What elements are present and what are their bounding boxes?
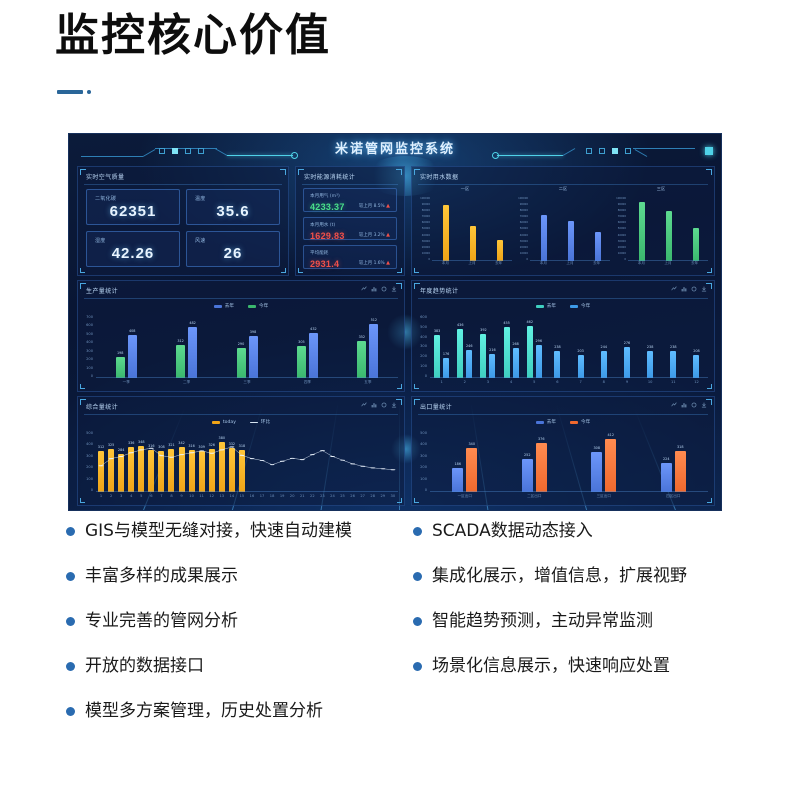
bar[interactable]: 238: [554, 351, 560, 378]
bar-group[interactable]: [655, 197, 682, 261]
trend-point[interactable]: [380, 468, 385, 469]
panel-divider: [302, 184, 398, 185]
legend-item[interactable]: today: [212, 420, 236, 425]
panel-title: 出口量统计: [420, 402, 452, 411]
header-node-circle: [291, 152, 298, 159]
bar[interactable]: 412: [605, 439, 616, 492]
bar[interactable]: [595, 232, 601, 261]
trend-point[interactable]: [250, 458, 255, 459]
refresh-icon[interactable]: [381, 402, 387, 408]
bar-value-label: 455: [503, 321, 509, 325]
bar-group[interactable]: [557, 197, 584, 261]
y-axis-tick: 20000: [520, 246, 528, 249]
y-axis-tick: 40000: [618, 234, 626, 237]
bar-group[interactable]: 392216: [476, 315, 499, 378]
energy-delta: 较上月 3.2% ▲: [359, 232, 390, 238]
bar-group[interactable]: 203: [569, 315, 592, 378]
bar[interactable]: 208: [693, 355, 699, 378]
bar[interactable]: 340: [466, 448, 477, 492]
bar-value-label: 482: [189, 321, 195, 325]
x-axis-line: [96, 491, 398, 492]
trend-point[interactable]: [391, 469, 396, 470]
bar[interactable]: 383: [434, 335, 440, 378]
panel-toolbar[interactable]: [361, 286, 397, 292]
bar-value-label: 176: [443, 352, 449, 356]
trend-point[interactable]: [229, 446, 234, 447]
bar-value-label: 276: [624, 341, 630, 345]
bar-value-label: 340: [469, 442, 475, 446]
bar[interactable]: [497, 240, 503, 261]
panel-toolbar[interactable]: [361, 402, 397, 408]
bar[interactable]: 312: [176, 345, 185, 378]
y-axis: 1000009000080000700006000050000400003000…: [612, 187, 628, 271]
kpi-card[interactable]: 二氧化碳 62351: [86, 189, 180, 225]
bar-group[interactable]: [487, 197, 514, 261]
download-icon[interactable]: [391, 402, 397, 408]
chart-legend[interactable]: 去年今年: [412, 419, 714, 425]
y-axis-tick: 70000: [618, 215, 626, 218]
y-axis-tick: 400: [420, 442, 427, 446]
y-axis-tick: 50000: [422, 227, 430, 230]
bar-group[interactable]: 312482: [156, 315, 216, 378]
legend-label: 今年: [581, 419, 590, 425]
bar[interactable]: 376: [536, 443, 547, 492]
bar[interactable]: [541, 215, 547, 261]
x-axis-tick: 1: [96, 494, 106, 503]
x-axis-tick: 2: [106, 494, 116, 503]
bar-value-label: 203: [577, 349, 583, 353]
y-axis-tick: 10000: [618, 252, 626, 255]
x-axis-labels: 123456789101112: [430, 380, 708, 389]
bar-value-label: 238: [647, 345, 653, 349]
y-axis-tick: 100000: [616, 197, 626, 200]
bar[interactable]: 318: [675, 451, 686, 492]
bar-group[interactable]: 186340: [430, 431, 500, 492]
trend-point[interactable]: [340, 460, 345, 461]
y-axis-tick: 0: [428, 258, 430, 261]
x-axis-tick: 25: [338, 494, 348, 503]
x-axis-labels: 本月上月去年: [628, 261, 708, 270]
x-axis-tick: 一区出口: [430, 494, 500, 503]
y-axis-tick: 20000: [422, 246, 430, 249]
bar[interactable]: 252: [522, 459, 533, 492]
bar[interactable]: [639, 202, 645, 261]
bar[interactable]: 238: [647, 351, 653, 378]
bar[interactable]: 305: [297, 346, 306, 378]
y-axis-tick: 60000: [520, 221, 528, 224]
bar-value-label: 238: [554, 345, 560, 349]
download-icon[interactable]: [701, 402, 707, 408]
y-axis-tick: 100: [86, 366, 93, 370]
benefit-text: 开放的数据接口: [85, 655, 204, 678]
legend-swatch: [570, 421, 578, 424]
legend-label: 今年: [581, 303, 590, 309]
bar-group[interactable]: 208: [685, 315, 708, 378]
panel-toolbar[interactable]: [671, 402, 707, 408]
panel-divider: [84, 184, 282, 185]
bar[interactable]: 290: [237, 348, 246, 378]
bullet-dot-icon: [66, 527, 75, 536]
chart-legend[interactable]: 去年今年: [78, 303, 404, 309]
energy-value: 2931.4: [310, 259, 339, 269]
bar-series: [530, 197, 612, 261]
bar-icon[interactable]: [371, 286, 377, 292]
trend-arrow-icon: ▲: [386, 260, 390, 266]
x-axis-tick: 24: [327, 494, 337, 503]
bar-group[interactable]: 305432: [277, 315, 337, 378]
x-axis-labels: 一区出口二区出口三区出口四区出口: [430, 494, 708, 503]
bar-group[interactable]: [585, 197, 612, 261]
bar-series: 198408312482290398305432352512: [96, 315, 398, 378]
bar[interactable]: 198: [116, 357, 125, 378]
header-deco-line-bright: [497, 155, 563, 156]
header-node-square-filled: [612, 148, 618, 154]
bar-value-label: 252: [524, 453, 530, 457]
bar-group[interactable]: [432, 197, 459, 261]
header-end-marker: [705, 147, 713, 155]
bar-group[interactable]: [628, 197, 655, 261]
y-axis-tick: 30000: [618, 240, 626, 243]
header-node-square: [599, 148, 605, 154]
x-axis-tick: 去年: [583, 261, 610, 270]
y-axis-tick: 100: [420, 364, 427, 368]
bar-group[interactable]: 352512: [338, 315, 398, 378]
x-axis-tick: 28: [368, 494, 378, 503]
bullet-dot-icon: [413, 662, 422, 671]
bar-value-label: 186: [455, 462, 461, 466]
x-axis-tick: 上月: [557, 261, 584, 270]
y-axis-tick: 40000: [520, 234, 528, 237]
legend-item[interactable]: 环比: [250, 419, 270, 425]
chart-legend[interactable]: 去年今年: [412, 303, 714, 309]
header-deco-line-bright: [227, 155, 293, 156]
bar-icon[interactable]: [681, 402, 687, 408]
x-axis-tick: 二区出口: [500, 494, 570, 503]
y-axis-tick: 80000: [618, 209, 626, 212]
trend-point[interactable]: [189, 452, 194, 453]
chart-switch-icon[interactable]: [361, 286, 367, 292]
panel-title: 综合量统计: [86, 402, 118, 411]
benefit-item: 开放的数据接口: [66, 655, 438, 678]
bar-group[interactable]: 252376: [500, 431, 570, 492]
bar-group[interactable]: 455268: [500, 315, 523, 378]
x-axis-line: [430, 377, 708, 378]
chart-switch-icon[interactable]: [671, 286, 677, 292]
bar[interactable]: 203: [578, 355, 584, 378]
x-axis-tick: 4: [126, 494, 136, 503]
y-axis: 5004003002001000: [78, 431, 96, 492]
bar[interactable]: 462: [527, 326, 533, 378]
benefit-text: 智能趋势预测，主动异常监测: [432, 610, 653, 633]
x-axis-tick: 30: [388, 494, 398, 503]
x-axis-tick: 12: [207, 494, 217, 503]
x-axis-tick: 7: [156, 494, 166, 503]
x-axis-tick: 22: [307, 494, 317, 503]
kpi-card[interactable]: 温度 35.6: [186, 189, 280, 225]
bar[interactable]: 246: [466, 350, 472, 378]
legend-swatch: [250, 422, 258, 423]
bar-group[interactable]: 244: [592, 315, 615, 378]
bar[interactable]: 244: [601, 351, 607, 378]
y-axis-tick: 700: [86, 315, 93, 319]
y-axis-tick: 10000: [520, 252, 528, 255]
bar-icon[interactable]: [681, 286, 687, 292]
header-node-square: [586, 148, 592, 154]
trend-point[interactable]: [240, 455, 245, 456]
benefit-item: 智能趋势预测，主动异常监测: [413, 610, 783, 633]
bar[interactable]: 268: [513, 348, 519, 378]
bar-group[interactable]: 276: [615, 315, 638, 378]
bar[interactable]: 352: [357, 341, 366, 378]
bar-group[interactable]: 238: [639, 315, 662, 378]
bar-group[interactable]: 308412: [569, 431, 639, 492]
benefit-item: 丰富多样的成果展示: [66, 565, 438, 588]
trend-point[interactable]: [139, 449, 144, 450]
trend-point[interactable]: [199, 450, 204, 451]
bullet-dot-icon: [413, 617, 422, 626]
benefit-item: 场景化信息展示，快速响应处置: [413, 655, 783, 678]
energy-delta: 较上月 8.5% ▲: [359, 203, 390, 209]
y-axis-tick: 500: [420, 325, 427, 329]
panel-divider: [84, 298, 398, 299]
bar-group[interactable]: 290398: [217, 315, 277, 378]
y-axis-tick: 60000: [618, 221, 626, 224]
x-axis-tick: 5: [136, 494, 146, 503]
legend-item[interactable]: 去年: [536, 419, 556, 425]
legend-item[interactable]: 今年: [570, 419, 590, 425]
chart-switch-icon[interactable]: [671, 402, 677, 408]
x-axis-labels: 本月上月去年: [530, 261, 610, 270]
trend-point[interactable]: [310, 454, 315, 455]
bar[interactable]: 296: [536, 345, 542, 378]
y-axis-tick: 40000: [422, 234, 430, 237]
trend-point[interactable]: [270, 464, 275, 465]
x-axis-tick: 去年: [485, 261, 512, 270]
bar-group[interactable]: [683, 197, 710, 261]
trend-point[interactable]: [149, 448, 154, 449]
bar[interactable]: 308: [591, 452, 602, 492]
bar-value-label: 244: [601, 345, 607, 349]
legend-item[interactable]: 去年: [214, 303, 234, 309]
legend-swatch: [248, 305, 256, 308]
trend-point[interactable]: [109, 458, 114, 459]
bar-group[interactable]: 462296: [523, 315, 546, 378]
download-icon[interactable]: [701, 286, 707, 292]
realtime-group: 一区10000090000800007000060000500004000030…: [416, 187, 514, 271]
bar-group[interactable]: 238: [662, 315, 685, 378]
kpi-card[interactable]: 风速 26: [186, 231, 280, 267]
y-axis-tick: 0: [91, 488, 93, 492]
bar[interactable]: 398: [249, 336, 258, 378]
bar[interactable]: 512: [369, 324, 378, 378]
bar-value-label: 352: [359, 335, 365, 339]
y-axis: 1000009000080000700006000050000400003000…: [514, 187, 530, 271]
y-axis-tick: 70000: [422, 215, 430, 218]
refresh-icon[interactable]: [691, 402, 697, 408]
bar[interactable]: 186: [452, 468, 463, 492]
bar[interactable]: 176: [443, 358, 449, 378]
x-axis-tick: 11: [197, 494, 207, 503]
bar[interactable]: 392: [480, 334, 486, 378]
trend-point[interactable]: [219, 449, 224, 450]
y-axis-tick: 0: [425, 374, 427, 378]
trend-line: [101, 447, 393, 470]
y-axis: 6005004003002001000: [412, 315, 430, 378]
benefits-list: GIS与模型无缝对接，快速自动建模丰富多样的成果展示专业完善的管网分析开放的数据…: [0, 520, 790, 750]
bar[interactable]: 482: [188, 327, 197, 378]
y-axis-tick: 100000: [518, 197, 528, 200]
title-underline-accent: [57, 90, 91, 94]
y-axis-tick: 300: [420, 454, 427, 458]
x-axis-tick: 五季: [338, 380, 398, 389]
y-axis-tick: 100: [86, 477, 93, 481]
x-axis-labels: 一季二季三季四季五季: [96, 380, 398, 389]
legend-item[interactable]: 今年: [248, 303, 268, 309]
trend-point[interactable]: [169, 457, 174, 458]
x-axis-tick: 一季: [96, 380, 156, 389]
bar-value-label: 238: [670, 345, 676, 349]
trend-point[interactable]: [350, 463, 355, 464]
x-axis-tick: 14: [227, 494, 237, 503]
benefits-column-left: GIS与模型无缝对接，快速自动建模丰富多样的成果展示专业完善的管网分析开放的数据…: [66, 520, 438, 745]
bar-group[interactable]: 198408: [96, 315, 156, 378]
x-axis-tick: 8: [592, 380, 615, 389]
bar[interactable]: 224: [661, 463, 672, 492]
panel-outlet: 出口量统计 去年今年 5004003002001000 186340252376…: [411, 396, 715, 506]
bullet-dot-icon: [413, 527, 422, 536]
x-axis-tick: 16: [247, 494, 257, 503]
benefits-column-right: SCADA数据动态接入集成化展示，增值信息，扩展视野智能趋势预测，主动异常监测场…: [413, 520, 783, 700]
trend-point[interactable]: [290, 458, 295, 459]
header-node-square: [185, 148, 191, 154]
x-axis-tick: 19: [277, 494, 287, 503]
bar[interactable]: 276: [624, 347, 630, 378]
bar[interactable]: [666, 211, 672, 261]
energy-value: 1629.83: [310, 231, 345, 241]
trend-point[interactable]: [280, 461, 285, 462]
legend-item[interactable]: 今年: [570, 303, 590, 309]
trend-point[interactable]: [330, 456, 335, 457]
bar-group[interactable]: 383176: [430, 315, 453, 378]
trend-point[interactable]: [360, 466, 365, 467]
kpi-grid: 二氧化碳 62351 温度 35.6 湿度 42.26 风速 26: [86, 189, 280, 267]
trend-point[interactable]: [159, 455, 164, 456]
panel-divider: [84, 414, 398, 415]
bar[interactable]: 455: [504, 327, 510, 378]
legend-label: 环比: [261, 419, 270, 425]
dashboard-header: 米诺管网监控系统: [69, 134, 721, 164]
panel-toolbar[interactable]: [671, 286, 707, 292]
bullet-dot-icon: [66, 662, 75, 671]
kpi-label: 温度: [195, 195, 206, 202]
y-axis-tick: 300: [420, 344, 427, 348]
bar-group[interactable]: 238: [546, 315, 569, 378]
bar-group[interactable]: 436246: [453, 315, 476, 378]
panel-title: 年度趋势统计: [420, 286, 458, 295]
energy-row[interactable]: 本月用水 (t) 1629.83 较上月 3.2% ▲: [303, 217, 397, 241]
bar[interactable]: 408: [128, 335, 137, 378]
title-accent-dot: [87, 90, 91, 94]
y-axis-tick: 500: [86, 431, 93, 435]
panel-energy-consumption: 实时能源消耗统计 本月用气 (m³) 4233.37 较上月 8.5% ▲ 本月…: [295, 166, 405, 276]
x-axis-tick: 5: [523, 380, 546, 389]
energy-row[interactable]: 本月用气 (m³) 4233.37 较上月 8.5% ▲: [303, 188, 397, 212]
bar[interactable]: [568, 221, 574, 261]
x-axis-line: [96, 377, 398, 378]
bar-group[interactable]: [459, 197, 486, 261]
y-axis-tick: 500: [420, 431, 427, 435]
chart-switch-icon[interactable]: [361, 402, 367, 408]
trend-point[interactable]: [320, 450, 325, 451]
trend-point[interactable]: [119, 456, 124, 457]
panel-title: 实时空气质量: [86, 172, 124, 181]
benefit-text: 专业完善的管网分析: [85, 610, 238, 633]
bar-value-label: 432: [310, 327, 316, 331]
y-axis-tick: 100000: [420, 197, 430, 200]
bar[interactable]: 432: [309, 333, 318, 378]
y-axis-tick: 30000: [520, 240, 528, 243]
panel-air-quality: 实时空气质量 二氧化碳 62351 温度 35.6 湿度 42.26 风速 26: [77, 166, 289, 276]
bar-value-label: 392: [480, 328, 486, 332]
x-axis-tick: 27: [358, 494, 368, 503]
chart-legend[interactable]: today环比: [78, 419, 404, 425]
kpi-label: 湿度: [95, 237, 106, 244]
bar[interactable]: [443, 205, 449, 261]
bar-series: 186340252376308412224318: [430, 431, 708, 492]
kpi-card[interactable]: 湿度 42.26: [86, 231, 180, 267]
x-axis-tick: 二季: [156, 380, 216, 389]
bar-group[interactable]: [530, 197, 557, 261]
bar[interactable]: 436: [457, 329, 463, 378]
header-node-square: [159, 148, 165, 154]
bullet-dot-icon: [66, 572, 75, 581]
bar-value-label: 383: [434, 329, 440, 333]
energy-row[interactable]: 平均能耗 2931.4 较上月 1.6% ▲: [303, 245, 397, 269]
trend-point[interactable]: [260, 460, 265, 461]
download-icon[interactable]: [391, 286, 397, 292]
y-axis-tick: 80000: [422, 209, 430, 212]
trend-point[interactable]: [99, 465, 104, 466]
x-axis-tick: 26: [348, 494, 358, 503]
trend-point[interactable]: [209, 453, 214, 454]
bar[interactable]: 238: [670, 351, 676, 378]
y-axis-tick: 400: [86, 340, 93, 344]
bar[interactable]: [693, 228, 699, 261]
y-axis-tick: 0: [425, 488, 427, 492]
x-axis-labels: 1234567891011121314151617181920212223242…: [96, 494, 398, 503]
energy-label: 本月用气 (m³): [310, 193, 340, 199]
trend-point[interactable]: [179, 454, 184, 455]
energy-delta: 较上月 1.6% ▲: [359, 260, 390, 266]
legend-label: 去年: [547, 419, 556, 425]
refresh-icon[interactable]: [381, 286, 387, 292]
trend-point[interactable]: [370, 467, 375, 468]
y-axis: 5004003002001000: [412, 431, 430, 492]
legend-item[interactable]: 去年: [536, 303, 556, 309]
bar[interactable]: [470, 226, 476, 261]
x-axis-tick: 三季: [217, 380, 277, 389]
x-axis-line: [432, 260, 512, 261]
bar-value-label: 512: [371, 318, 377, 322]
legend-swatch: [212, 421, 220, 424]
x-axis-tick: 10: [639, 380, 662, 389]
trend-point[interactable]: [129, 452, 134, 453]
bar-group[interactable]: 224318: [639, 431, 709, 492]
trend-point[interactable]: [300, 459, 305, 460]
refresh-icon[interactable]: [691, 286, 697, 292]
bar[interactable]: 216: [489, 354, 495, 378]
bar-icon[interactable]: [371, 402, 377, 408]
